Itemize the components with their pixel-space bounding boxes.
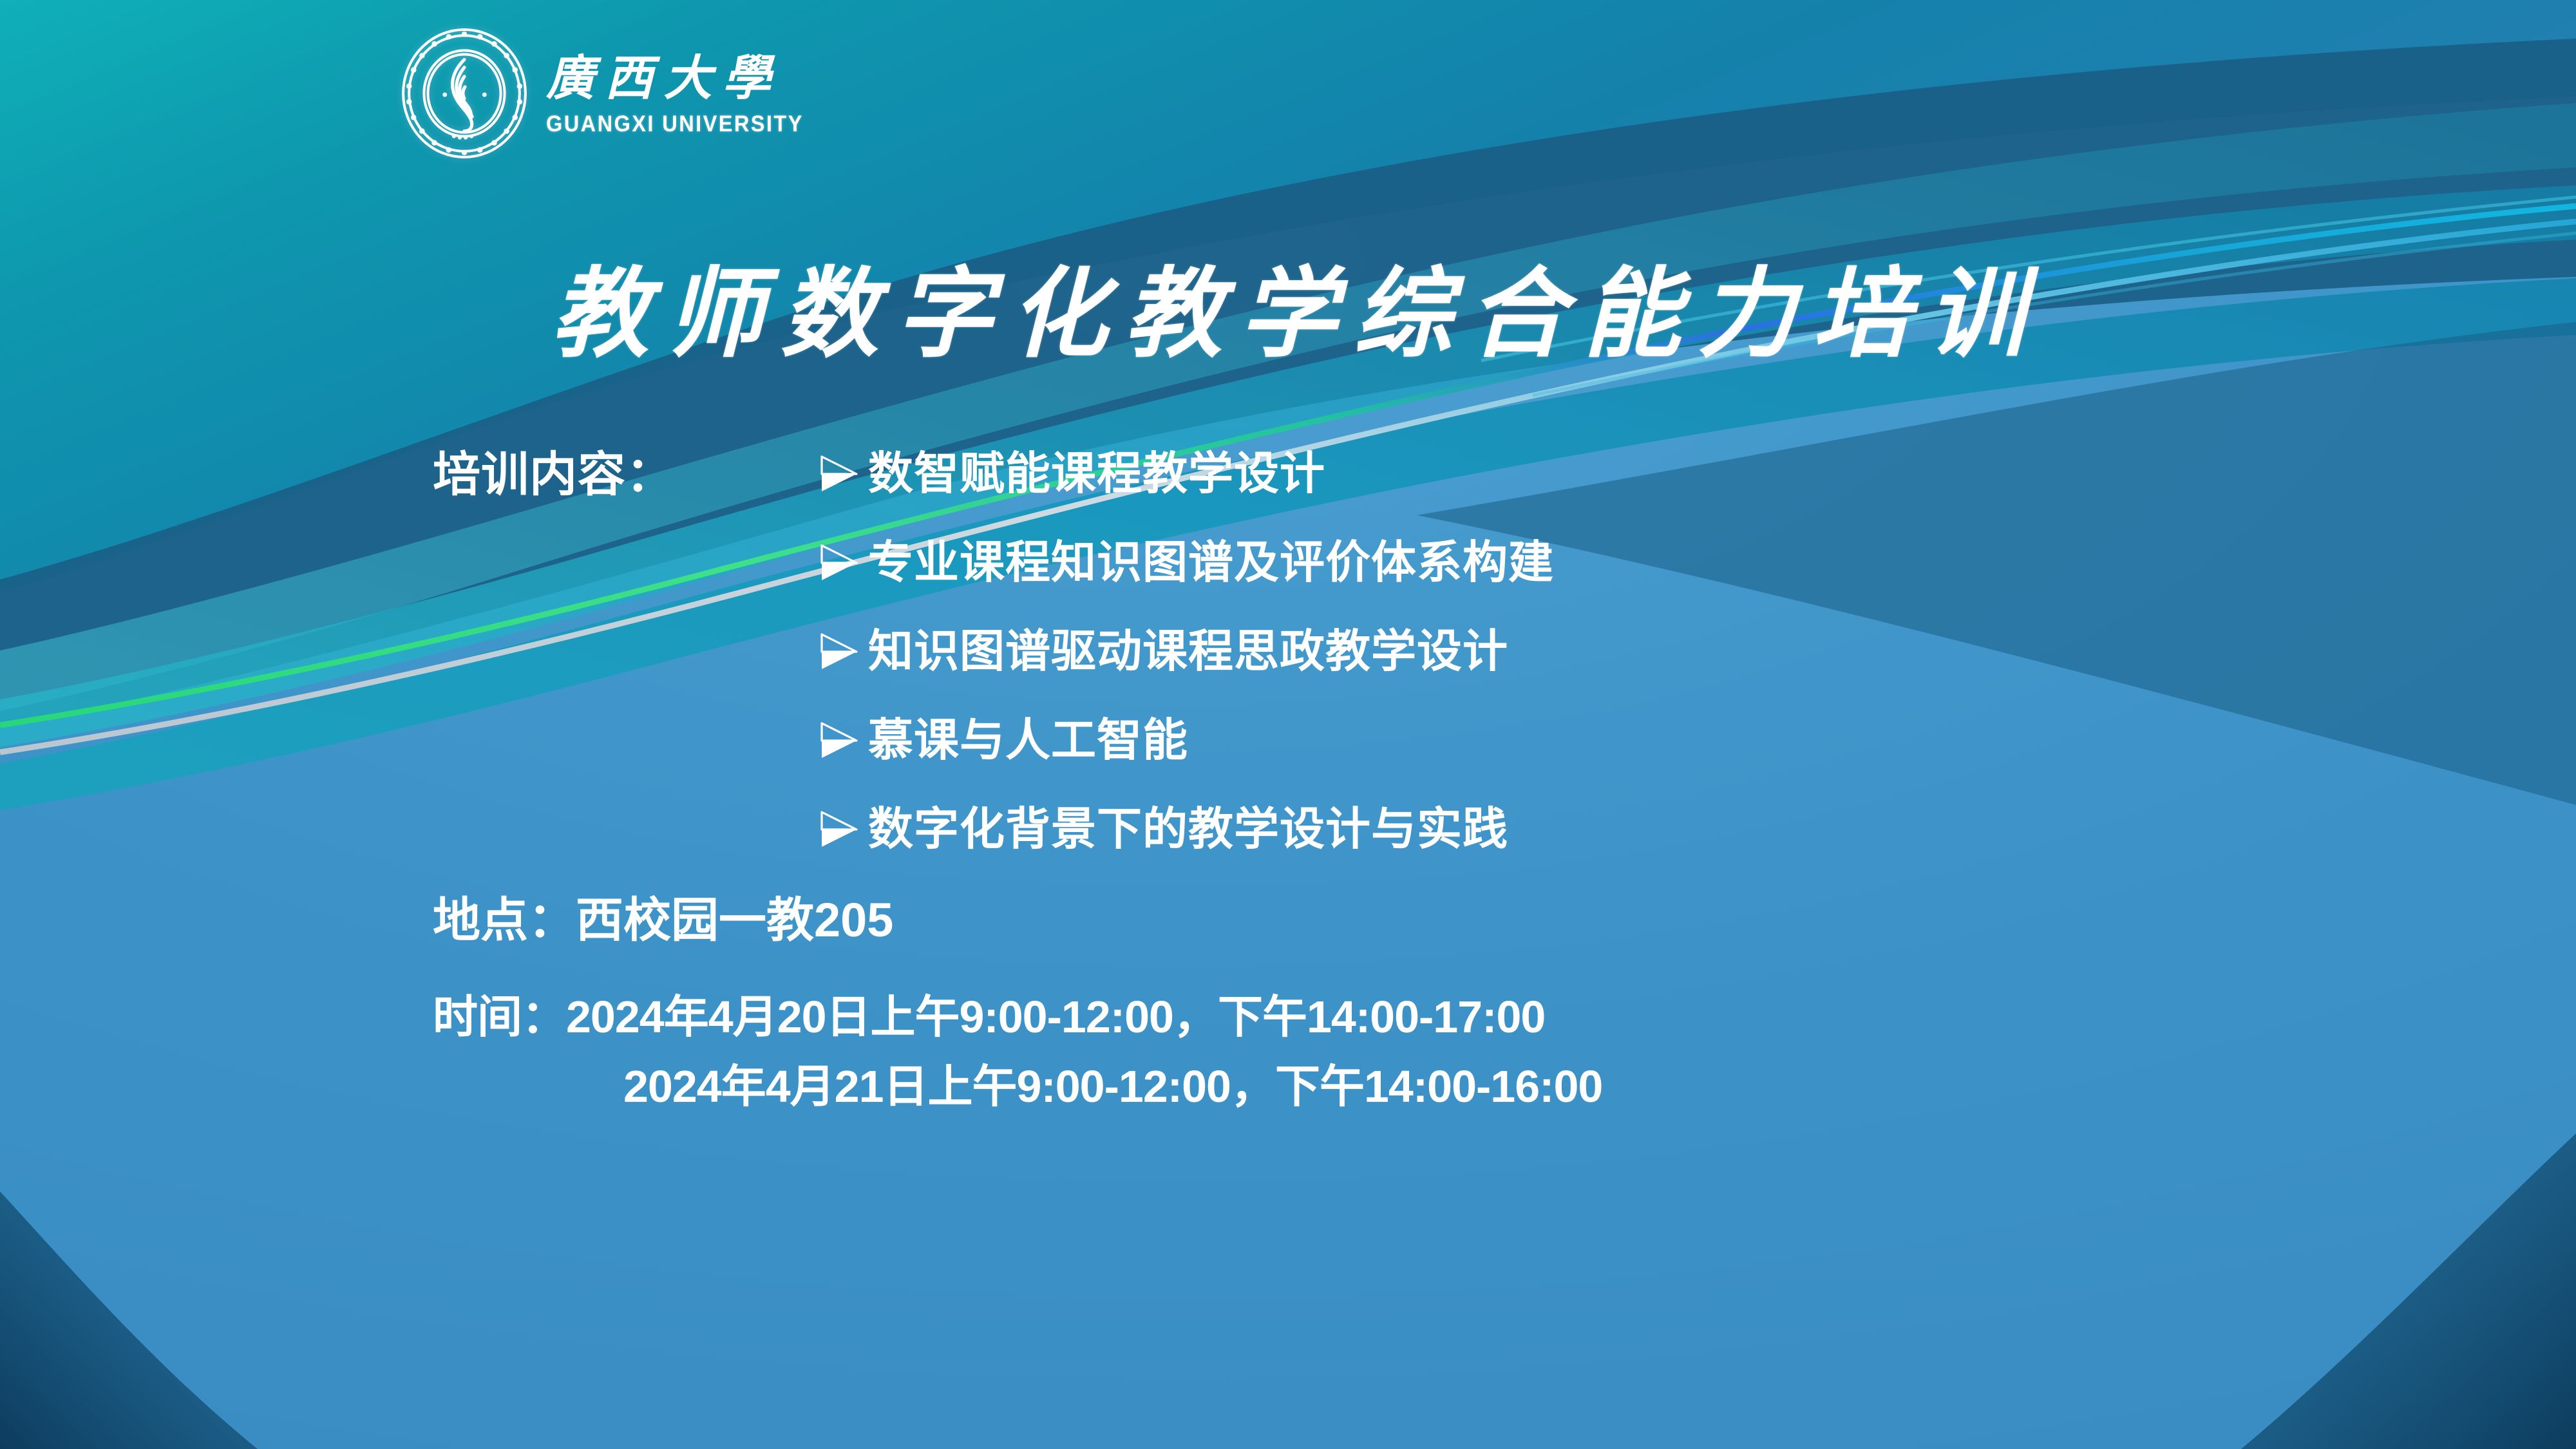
list-item: 慕课与人工智能 — [819, 717, 1554, 762]
list-item: 知识图谱驱动课程思政教学设计 — [819, 629, 1554, 674]
venue-value: 西校园一教205 — [576, 896, 893, 944]
time-line-first: 时间：2024年4月20日上午9:00-12:00，下午14:00-17:00 — [433, 994, 2576, 1039]
logo-text-group: 廣西大學 GUANGXI UNIVERSITY — [546, 50, 823, 137]
logo-chinese-name: 廣西大學 — [546, 52, 822, 106]
arrowhead-bullet-icon — [819, 722, 859, 759]
arrowhead-bullet-icon — [819, 455, 859, 493]
time-line-second: 2024年4月21日上午9:00-12:00，下午14:00-16:00 — [433, 1064, 2576, 1109]
time-section: 时间：2024年4月20日上午9:00-12:00，下午14:00-17:00 … — [433, 994, 2576, 1109]
arrowhead-bullet-icon — [819, 544, 859, 582]
list-item-label: 数智赋能课程教学设计 — [868, 451, 1325, 496]
arrowhead-bullet-icon — [819, 633, 859, 670]
list-item: 专业课程知识图谱及评价体系构建 — [819, 540, 1554, 585]
venue-section: 地点： 西校园一教205 — [433, 896, 2576, 944]
page-title: 教师数字化教学综合能力培训 — [0, 258, 2576, 370]
slide-content: 培训内容： 数智赋能课程教学设计 — [0, 451, 2576, 1109]
list-item: 数字化背景下的教学设计与实践 — [819, 806, 1554, 851]
list-item: 数智赋能课程教学设计 — [819, 451, 1554, 496]
time-label: 时间： — [433, 992, 566, 1042]
list-item-label: 数字化背景下的教学设计与实践 — [868, 806, 1508, 851]
list-item-label: 慕课与人工智能 — [868, 717, 1188, 762]
list-item-label: 知识图谱驱动课程思政教学设计 — [868, 629, 1508, 674]
bottom-left-corner-wedge — [0, 1191, 258, 1449]
list-item-label: 专业课程知识图谱及评价体系构建 — [868, 540, 1554, 585]
logo-english-name: GUANGXI UNIVERSITY — [546, 111, 804, 137]
training-topics-label: 培训内容： — [433, 451, 819, 498]
guangxi-university-seal-icon — [399, 27, 529, 160]
time-value-first: 2024年4月20日上午9:00-12:00，下午14:00-17:00 — [566, 992, 1545, 1042]
presentation-slide: 廣西大學 GUANGXI UNIVERSITY 教师数字化教学综合能力培训 培训… — [0, 0, 2576, 1449]
arrowhead-bullet-icon — [819, 811, 859, 848]
bottom-right-corner-wedge — [2241, 1133, 2576, 1449]
training-topics-section: 培训内容： 数智赋能课程教学设计 — [433, 451, 2576, 851]
venue-label: 地点： — [433, 896, 576, 944]
training-topics-list: 数智赋能课程教学设计 专业课程知识图谱及评价体系构建 — [819, 451, 1554, 851]
svg-text:廣西大學: 廣西大學 — [546, 52, 781, 106]
university-logo: 廣西大學 GUANGXI UNIVERSITY — [399, 27, 823, 160]
